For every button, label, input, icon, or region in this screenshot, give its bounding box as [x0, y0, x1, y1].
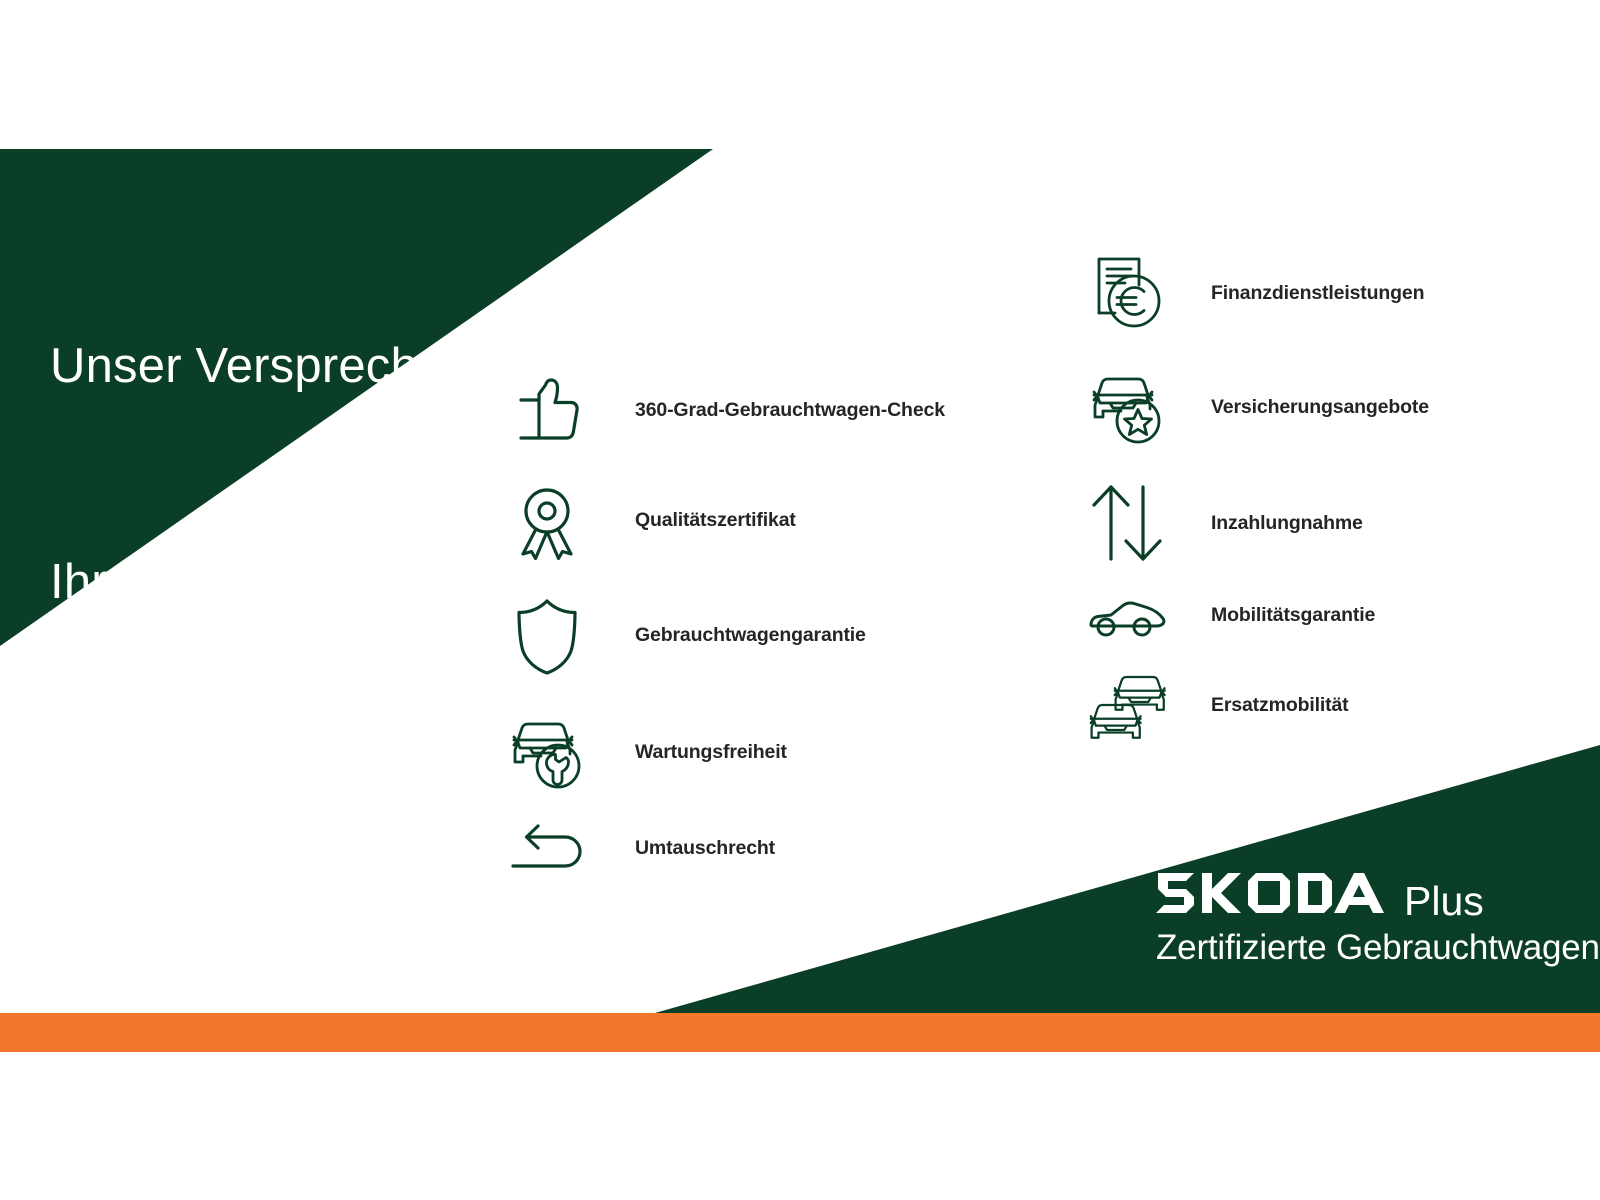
up-down-arrows-icon — [1085, 475, 1181, 571]
headline-line-1: Unser Versprechen. — [50, 330, 487, 402]
feature-item: Umtauschrecht — [505, 800, 775, 896]
feature-item: Wartungsfreiheit — [505, 704, 787, 800]
feature-item: Qualitätszertifikat — [505, 472, 796, 568]
feature-item: Finanzdienstleistungen — [1085, 245, 1424, 341]
feature-item: Mobilitätsgarantie — [1085, 567, 1375, 663]
feature-label: Inzahlungnahme — [1211, 512, 1363, 535]
award-rosette-icon — [505, 472, 601, 568]
feature-label: Qualitätszertifikat — [635, 509, 796, 532]
headline-line-2: Ihr Plus. — [50, 546, 487, 618]
car-wrench-icon — [505, 704, 601, 800]
document-euro-icon — [1085, 245, 1181, 341]
feature-label: Gebrauchtwagengarantie — [635, 624, 866, 647]
u-turn-arrow-icon — [505, 800, 601, 896]
feature-label: Umtauschrecht — [635, 837, 775, 860]
skoda-wordmark-icon — [1156, 872, 1388, 914]
two-cars-icon — [1085, 657, 1181, 753]
feature-item: Versicherungsangebote — [1085, 359, 1429, 455]
skoda-plus-promise-poster: Unser Versprechen. Ihr Plus. 360-Grad-Ge… — [0, 0, 1600, 1200]
feature-item: Inzahlungnahme — [1085, 475, 1363, 571]
shield-icon — [505, 587, 601, 683]
feature-label: Ersatzmobilität — [1211, 694, 1349, 717]
feature-item: Gebrauchtwagengarantie — [505, 587, 866, 683]
feature-label: Versicherungsangebote — [1211, 396, 1429, 419]
page-title: Unser Versprechen. Ihr Plus. — [50, 186, 487, 762]
feature-item: 360-Grad-Gebrauchtwagen-Check — [505, 362, 945, 458]
car-star-icon — [1085, 359, 1181, 455]
skoda-plus-logo-lockup: Plus Zertifizierte Gebrauchtwagen — [1156, 872, 1600, 965]
thumbs-up-icon — [505, 362, 601, 458]
feature-label: Finanzdienstleistungen — [1211, 282, 1424, 305]
feature-label: 360-Grad-Gebrauchtwagen-Check — [635, 399, 945, 422]
feature-label: Mobilitätsgarantie — [1211, 604, 1375, 627]
car-side-icon — [1085, 567, 1181, 663]
feature-label: Wartungsfreiheit — [635, 741, 787, 764]
logo-tagline: Zertifizierte Gebrauchtwagen — [1156, 930, 1600, 965]
feature-item: Ersatzmobilität — [1085, 657, 1349, 753]
orange-accent-bar — [0, 1013, 1600, 1052]
logo-plus-text: Plus — [1404, 881, 1484, 922]
